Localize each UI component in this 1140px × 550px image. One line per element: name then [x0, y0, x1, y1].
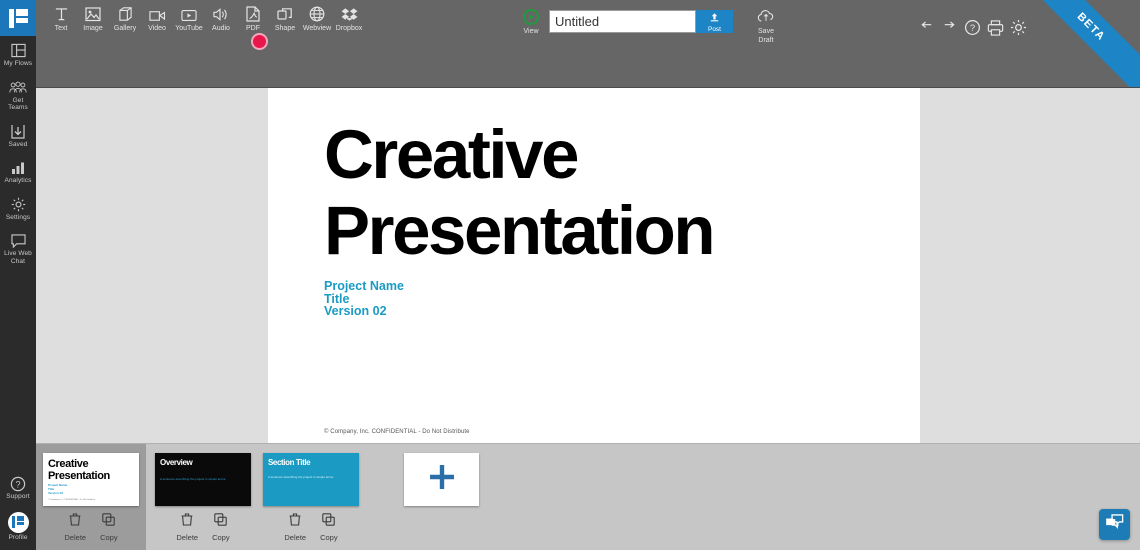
copy-slide-button[interactable]: Copy [212, 513, 230, 543]
thumbnail-cell-3[interactable]: Section Title A sentence describing the … [256, 444, 366, 550]
app-logo[interactable] [0, 0, 36, 36]
chat-bubble-icon [11, 232, 26, 249]
audio-speaker-icon [213, 2, 230, 22]
bar-chart-icon [11, 159, 25, 176]
sidebar-item-get-teams[interactable]: GetTeams [0, 73, 36, 117]
thumbnail-actions: Delete Copy [284, 513, 337, 543]
svg-text:?: ? [15, 479, 20, 489]
avatar-icon [8, 512, 29, 533]
delete-label: Delete [64, 533, 86, 543]
sidebar-item-profile[interactable]: Profile [0, 506, 36, 547]
slide-footer: © Company, Inc. CONFIDENTIAL - Do Not Di… [324, 429, 470, 435]
sidebar-item-label: GetTeams [8, 97, 28, 112]
trash-icon [69, 513, 81, 531]
slide-canvas: Creative Presentation Project Name Title… [36, 88, 1140, 442]
add-slide-button[interactable] [404, 453, 479, 506]
copy-label: Copy [212, 533, 230, 543]
copy-label: Copy [100, 533, 118, 543]
sidebar-item-label: Analytics [5, 177, 32, 185]
sidebar-item-label: Support [6, 493, 29, 501]
sidebar-item-support[interactable]: ? Support [0, 469, 36, 506]
toolbar-item-label: Video [148, 24, 166, 33]
sidebar-item-label: My Flows [4, 60, 32, 68]
image-icon [85, 2, 101, 22]
toolbar-item-webview[interactable]: Webview [302, 2, 332, 33]
insert-toolbar: Text Image Gallery Video [45, 2, 365, 33]
delete-slide-button[interactable]: Delete [176, 513, 198, 543]
help-icon[interactable]: ? [961, 16, 984, 39]
toolbar-item-shape[interactable]: Shape [270, 2, 300, 33]
toolbar-item-label: Gallery [114, 24, 136, 33]
shape-icon [277, 2, 293, 22]
globe-icon [309, 2, 325, 22]
flowvella-logo-icon [9, 9, 28, 28]
copy-icon [322, 513, 335, 531]
svg-text:?: ? [970, 23, 975, 34]
delete-slide-button[interactable]: Delete [284, 513, 306, 543]
top-header: Text Image Gallery Video [36, 0, 1140, 88]
record-button[interactable] [251, 33, 268, 50]
slide-subtitle-line: Project Name [324, 280, 404, 293]
text-icon [54, 2, 69, 22]
thumbnail-cell-2[interactable]: Overview A sentence describing the proje… [148, 444, 258, 550]
gallery-cube-icon [118, 2, 133, 22]
plus-icon [427, 462, 457, 497]
app-root: My Flows GetTeams Saved Analytics Settin [0, 0, 1140, 550]
print-icon[interactable] [984, 16, 1007, 39]
save-draft-label: SaveDraft [758, 28, 774, 45]
left-sidebar: My Flows GetTeams Saved Analytics Settin [0, 0, 36, 550]
delete-label: Delete [284, 533, 306, 543]
thumbnail-subtitle: A sentence describing the project in sim… [160, 477, 230, 481]
slide-subtitle-line: Version 02 [324, 305, 404, 318]
post-button[interactable]: Post [696, 10, 733, 33]
thumbnail-preview[interactable]: Section Title A sentence describing the … [263, 453, 359, 506]
settings-gear-icon[interactable] [1007, 16, 1030, 39]
pdf-icon [246, 2, 260, 22]
live-chat-button[interactable] [1099, 509, 1130, 540]
beta-ribbon: BETA [1013, 0, 1140, 88]
toolbar-item-video[interactable]: Video [142, 2, 172, 33]
video-camera-icon [149, 2, 166, 22]
slide-subtitle[interactable]: Project Name Title Version 02 [324, 280, 404, 318]
copy-icon [102, 513, 115, 531]
trash-icon [181, 513, 193, 531]
play-circle-icon [523, 9, 539, 25]
header-center-cluster: View Post SaveDraft [517, 8, 783, 45]
toolbar-item-youtube[interactable]: YouTube [174, 2, 204, 33]
sidebar-item-analytics[interactable]: Analytics [0, 153, 36, 190]
slide-filmstrip: Creative Presentation Project NameTitleV… [36, 443, 1140, 550]
toolbar-item-label: Audio [212, 24, 230, 33]
sidebar-item-label: Settings [6, 214, 30, 222]
sidebar-item-live-web-chat[interactable]: Live WebChat [0, 226, 36, 270]
thumbnail-subtitle: Project NameTitleVersion 02 [48, 483, 67, 495]
copy-slide-button[interactable]: Copy [320, 513, 338, 543]
thumbnail-title: Section Title [268, 458, 310, 467]
layout-icon [11, 42, 26, 59]
toolbar-item-audio[interactable]: Audio [206, 2, 236, 33]
sidebar-item-label: Live WebChat [4, 250, 32, 265]
save-draft-button[interactable]: SaveDraft [749, 8, 783, 45]
copy-icon [214, 513, 227, 531]
post-button-label: Post [708, 26, 721, 33]
thumbnail-actions: Delete Copy [64, 513, 117, 543]
thumbnail-subtitle: A sentence describing the project in sim… [268, 475, 346, 479]
delete-label: Delete [176, 533, 198, 543]
thumbnail-title: Overview [160, 458, 192, 467]
toolbar-item-label: Image [83, 24, 102, 33]
sidebar-item-saved[interactable]: Saved [0, 117, 36, 154]
thumbnail-title: Creative Presentation [48, 458, 134, 482]
header-action-icons: ? [915, 16, 1030, 39]
undo-icon[interactable] [915, 16, 938, 39]
sidebar-bottom-group: ? Support Profile [0, 469, 36, 546]
youtube-icon [181, 2, 197, 22]
people-icon [9, 79, 27, 96]
toolbar-item-label: PDF [246, 24, 260, 33]
cloud-upload-icon [757, 9, 775, 28]
flow-title-input[interactable] [549, 10, 696, 33]
trash-icon [289, 513, 301, 531]
toolbar-item-pdf[interactable]: PDF [238, 2, 268, 33]
thumbnail-preview[interactable]: Creative Presentation Project NameTitleV… [43, 453, 139, 506]
toolbar-item-gallery[interactable]: Gallery [110, 2, 140, 33]
sidebar-item-my-flows[interactable]: My Flows [0, 36, 36, 73]
sidebar-item-label: Profile [8, 534, 27, 542]
view-button-label: View [523, 27, 538, 36]
download-icon [11, 123, 25, 140]
toolbar-item-label: YouTube [175, 24, 203, 33]
current-slide[interactable]: Creative Presentation Project Name Title… [268, 88, 920, 450]
thumbnail-actions: Delete Copy [176, 513, 229, 543]
toolbar-item-text[interactable]: Text [46, 2, 76, 33]
toolbar-item-image[interactable]: Image [78, 2, 108, 33]
chat-bubbles-icon [1105, 514, 1124, 536]
slide-title[interactable]: Creative Presentation [324, 117, 884, 269]
upload-icon [709, 11, 720, 26]
redo-icon[interactable] [938, 16, 961, 39]
view-button[interactable]: View [517, 8, 545, 36]
toolbar-item-label: Webview [303, 24, 331, 33]
copy-slide-button[interactable]: Copy [100, 513, 118, 543]
copy-label: Copy [320, 533, 338, 543]
thumbnail-preview[interactable]: Overview A sentence describing the proje… [155, 453, 251, 506]
sidebar-item-settings[interactable]: Settings [0, 190, 36, 227]
dropbox-icon [341, 2, 358, 22]
thumbnail-cell-1[interactable]: Creative Presentation Project NameTitleV… [36, 444, 146, 550]
toolbar-item-dropbox[interactable]: Dropbox [334, 2, 364, 33]
toolbar-item-label: Shape [275, 24, 295, 33]
toolbar-item-label: Dropbox [336, 24, 362, 33]
delete-slide-button[interactable]: Delete [64, 513, 86, 543]
question-circle-icon: ? [10, 475, 26, 492]
sidebar-item-label: Saved [9, 141, 28, 149]
gear-icon [11, 196, 26, 213]
thumbnail-footer: © Company, Inc. CONFIDENTIAL - Do Not Di… [48, 499, 95, 501]
toolbar-item-label: Text [55, 24, 68, 33]
